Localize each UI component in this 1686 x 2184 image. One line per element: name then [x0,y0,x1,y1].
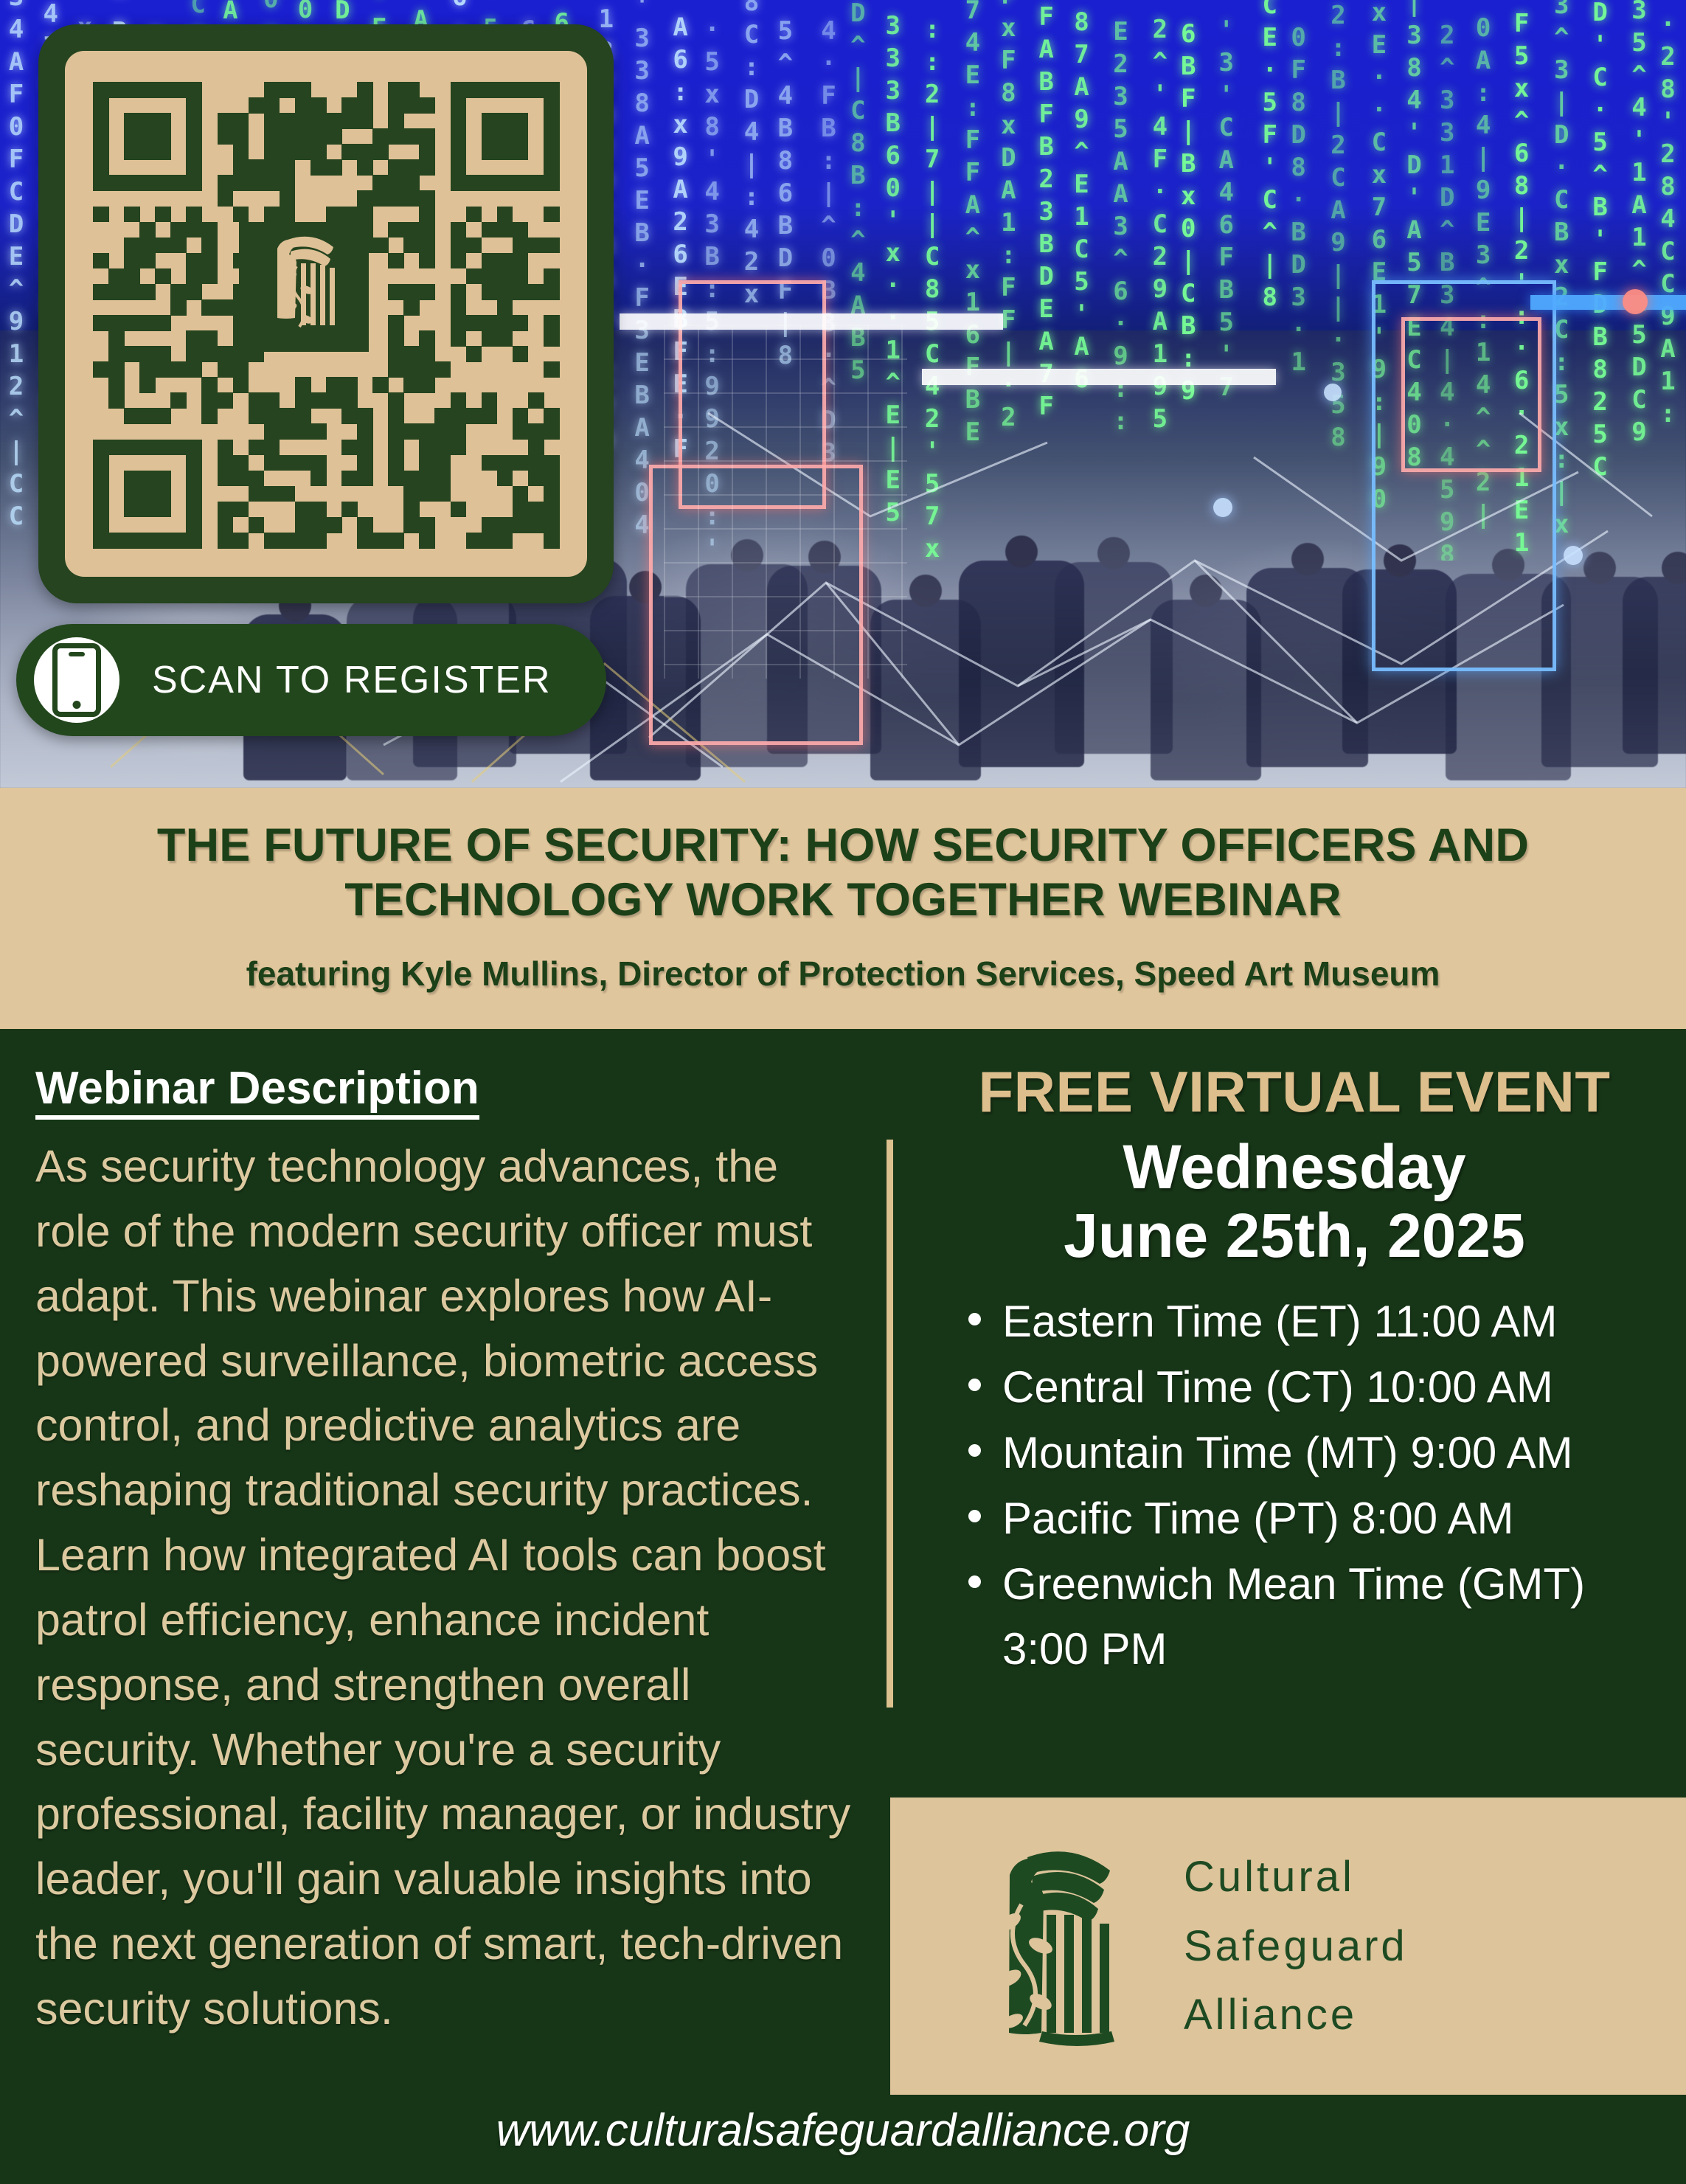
qr-module [155,471,171,487]
qr-module [218,517,234,533]
qr-module [264,128,280,145]
qr-module [124,207,140,223]
qr-module [434,440,451,456]
logo-line-2: Safeguard [1184,1912,1408,1981]
qr-module [403,238,420,254]
qr-module [280,128,296,145]
qr-module [311,502,327,518]
qr-module [218,175,234,191]
qr-module [403,377,420,393]
qr-module [124,128,140,145]
qr-module [434,408,451,424]
qr-module [280,113,296,129]
qr-module [108,533,125,549]
qr-module [233,144,249,160]
qr-module [497,82,513,98]
qr-module [218,128,234,145]
qr-module [233,361,249,378]
qr-module [280,423,296,440]
qr-module [186,471,202,487]
title-band: THE FUTURE OF SECURITY: HOW SECURITY OFF… [0,788,1686,1029]
qr-module [93,159,109,176]
qr-module [93,207,109,223]
qr-module [186,346,202,362]
organization-name: Cultural Safeguard Alliance [1184,1842,1408,2050]
qr-module [93,82,109,98]
qr-module [341,207,358,223]
qr-module [264,423,280,440]
qr-module [124,82,140,98]
qr-module [466,408,482,424]
qr-module [155,440,171,456]
qr-module [233,533,249,549]
qr-module [482,315,498,331]
qr-module [544,113,560,129]
qr-module [280,408,296,424]
qr-module [357,533,373,549]
qr-module [403,159,420,176]
qr-module [326,207,342,223]
qr-module [93,361,109,378]
qr-module [93,175,109,191]
hero-banner: 3 4 A F 0 F C D E ^ 9 1 2 ^ | C C 4 7 A … [0,0,1686,788]
event-day: Wednesday [926,1133,1663,1202]
qr-module [357,82,373,98]
qr-module [451,222,467,238]
qr-module [139,377,156,393]
qr-module [403,517,420,533]
qr-module [388,128,404,145]
qr-module [108,330,125,347]
qr-module [513,346,529,362]
qr-module [419,377,435,393]
qr-module [482,517,498,533]
qr-module [124,408,140,424]
column-logo-small-icon [239,222,369,352]
qr-module [201,268,218,285]
qr-module [233,113,249,129]
qr-module [201,238,218,254]
qr-module [264,175,280,191]
qr-module [403,346,420,362]
qr-module [201,299,218,316]
qr-module [451,284,467,300]
qr-module [341,144,358,160]
qr-module [341,113,358,129]
qr-module [139,346,156,362]
qr-module [108,268,125,285]
qr-module [155,361,171,378]
qr-module [280,82,296,98]
qr-module [388,408,404,424]
qr-module [419,346,435,362]
qr-module [170,392,187,409]
qr-module [544,284,560,300]
qr-module [419,486,435,502]
qr-module [280,190,296,207]
qr-module [249,440,265,456]
qr-module [497,128,513,145]
qr-module [403,486,420,502]
qr-module [326,128,342,145]
qr-module [466,533,482,549]
qr-module [249,97,265,114]
qr-module [513,82,529,98]
qr-module [249,486,265,502]
qr-module [295,377,311,393]
qr-module [170,175,187,191]
qr-module [170,284,187,300]
qr-module [124,315,140,331]
qr-module [186,268,202,285]
qr-module [139,486,156,502]
qr-module [124,533,140,549]
qr-module [357,113,373,129]
qr-module [186,533,202,549]
qr-module [544,330,560,347]
qr-module [311,392,327,409]
qr-module [388,284,404,300]
qr-module [419,330,435,347]
qr-module [497,253,513,269]
qr-module [295,423,311,440]
phone-icon-circle [34,637,119,723]
qr-module [544,455,560,471]
qr-module [170,82,187,98]
qr-module [372,128,389,145]
qr-module [388,361,404,378]
qr-module [218,113,234,129]
qr-module [218,455,234,471]
qr-module [513,238,529,254]
qr-module [155,346,171,362]
qr-module [388,346,404,362]
title-line-1: THE FUTURE OF SECURITY: HOW SECURITY OFF… [81,819,1605,873]
qr-module [466,175,482,191]
qr-module [186,517,202,533]
hud-dot-1 [1213,498,1232,517]
qr-module [186,440,202,456]
qr-module [388,159,404,176]
qr-module [295,82,311,98]
timezone-item: Eastern Time (ET) 11:00 AM [968,1289,1663,1355]
qr-module [403,82,420,98]
qr-module [108,377,125,393]
qr-module [93,128,109,145]
qr-module [434,471,451,487]
qr-module [295,455,311,471]
qr-module [388,190,404,207]
qr-module [497,222,513,238]
qr-module [388,440,404,456]
scan-to-register-label: SCAN TO REGISTER [152,658,552,702]
timezone-item: Pacific Time (PT) 8:00 AM [968,1486,1663,1552]
qr-module [419,517,435,533]
qr-module [295,113,311,129]
qr-module [482,330,498,347]
qr-module [139,408,156,424]
qr-module [155,144,171,160]
qr-module [357,190,373,207]
qr-module [403,175,420,191]
qr-module [93,471,109,487]
qr-module [249,175,265,191]
qr-module [528,392,544,409]
qr-module [357,440,373,456]
qr-module [108,175,125,191]
qr-module [357,144,373,160]
qr-module [372,533,389,549]
qr-module [513,486,529,502]
hud-dot-3 [1564,546,1583,565]
qr-module [528,471,544,487]
qr-module [108,82,125,98]
qr-module [357,423,373,440]
qr-module [528,517,544,533]
qr-module [528,175,544,191]
qr-module [513,113,529,129]
qr-module [434,423,451,440]
qr-module [388,471,404,487]
qr-module [124,440,140,456]
qr-code-background [65,51,587,577]
qr-module [341,440,358,456]
qr-module [233,175,249,191]
qr-module [295,517,311,533]
qr-module [201,392,218,409]
qr-module [233,128,249,145]
qr-module [497,207,513,223]
qr-module [403,361,420,378]
title-subtitle: featuring Kyle Mullins, Director of Prot… [0,954,1686,994]
qr-module [155,533,171,549]
qr-module [124,471,140,487]
qr-module [233,207,249,223]
qr-module [233,502,249,518]
qr-module [264,408,280,424]
qr-module [218,533,234,549]
qr-module [93,253,109,269]
qr-module [280,486,296,502]
qr-module [93,113,109,129]
qr-module [139,82,156,98]
qr-module [341,97,358,114]
qr-module [482,455,498,471]
timezone-item: Mountain Time (MT) 9:00 AM [968,1421,1663,1486]
qr-module [139,533,156,549]
qr-module [201,377,218,393]
qr-module [544,361,560,378]
qr-module [466,238,482,254]
qr-module [497,299,513,316]
qr-module [388,330,404,347]
qr-module [249,517,265,533]
qr-module [124,113,140,129]
qr-module [497,284,513,300]
qr-module [295,97,311,114]
qr-module [124,284,140,300]
qr-module [544,207,560,223]
qr-module [388,533,404,549]
qr-module [124,346,140,362]
qr-module [218,299,234,316]
qr-module [264,159,280,176]
hud-bar-blue [1530,295,1686,310]
qr-module [451,128,467,145]
qr-module [280,533,296,549]
qr-module [372,377,389,393]
qr-module [544,268,560,285]
qr-module [139,471,156,487]
qr-module [451,330,467,347]
qr-module [186,253,202,269]
qr-module [108,392,125,409]
qr-module [372,175,389,191]
qr-module [388,97,404,114]
qr-module [218,190,234,207]
qr-module [544,486,560,502]
qr-module [155,175,171,191]
qr-module [186,361,202,378]
qr-module [451,113,467,129]
qr-module [513,517,529,533]
qr-module [403,284,420,300]
qr-module [93,97,109,114]
qr-module [264,82,280,98]
qr-module [155,502,171,518]
qr-module [201,330,218,347]
qr-module [357,97,373,114]
qr-module [419,253,435,269]
qr-module [451,253,467,269]
mobile-phone-icon [52,643,101,717]
qr-module [295,392,311,409]
qr-module [497,330,513,347]
qr-module [544,238,560,254]
qr-module [544,533,560,549]
logo-line-1: Cultural [1184,1842,1408,1912]
qr-module [513,128,529,145]
hud-dot-2 [1324,384,1342,401]
qr-module [139,440,156,456]
qr-module [497,533,513,549]
qr-module [434,455,451,471]
qr-module [341,377,358,393]
logo-line-3: Alliance [1184,1980,1408,2050]
qr-module [93,502,109,518]
qr-module [403,299,420,316]
hud-grid [664,325,907,679]
qr-module [341,502,358,518]
qr-module [170,222,187,238]
qr-module [186,144,202,160]
qr-module [513,423,529,440]
tracking-box-blue-1 [1372,280,1556,671]
qr-module [497,455,513,471]
qr-module [326,159,342,176]
qr-module [249,392,265,409]
qr-module [186,486,202,502]
qr-module [93,440,109,456]
qr-module [139,128,156,145]
qr-module [311,113,327,129]
qr-module [513,502,529,518]
qr-module [233,471,249,487]
qr-module [170,238,187,254]
qr-module [186,222,202,238]
qr-module [311,533,327,549]
scan-to-register-button[interactable]: SCAN TO REGISTER [16,624,606,736]
qr-module [419,97,435,114]
qr-module [466,268,482,285]
page-title: THE FUTURE OF SECURITY: HOW SECURITY OFF… [0,788,1686,927]
qr-module [388,253,404,269]
qr-module [466,207,482,223]
qr-module [497,144,513,160]
qr-module [155,268,171,285]
qr-module [403,190,420,207]
webinar-flyer: 3 4 A F 0 F C D E ^ 9 1 2 ^ | C C 4 7 A … [0,0,1686,2184]
qr-module [170,533,187,549]
qr-module [419,207,435,223]
description-text: As security technology advances, the rol… [35,1134,861,2042]
qr-module [264,207,280,223]
qr-code-frame[interactable] [38,24,614,603]
qr-module [513,253,529,269]
qr-module [295,408,311,424]
qr-module [544,471,560,487]
qr-module [419,471,435,487]
qr-module [201,222,218,238]
qr-module [513,315,529,331]
event-date-value: June 25th, 2025 [926,1202,1663,1270]
qr-module [326,113,342,129]
qr-module [186,330,202,347]
website-url[interactable]: www.culturalsafeguardalliance.org [0,2104,1686,2157]
qr-module [170,440,187,456]
qr-module [497,175,513,191]
qr-module [93,486,109,502]
qr-module [419,533,435,549]
qr-module [419,423,435,440]
qr-module [326,392,342,409]
qr-module [482,392,498,409]
qr-module [264,455,280,471]
qr-module [372,190,389,207]
qr-module [341,392,358,409]
qr-module [497,268,513,285]
qr-module [186,82,202,98]
qr-module [497,471,513,487]
qr-module [155,486,171,502]
qr-module [419,284,435,300]
qr-module [466,315,482,331]
qr-module [466,82,482,98]
qr-module [513,144,529,160]
qr-module [139,284,156,300]
qr-module [233,159,249,176]
qr-module [311,128,327,145]
qr-module [451,82,467,98]
qr-module [451,97,467,114]
qr-module [201,253,218,269]
qr-module [419,440,435,456]
qr-module [124,268,140,285]
qr-module [218,471,234,487]
qr-module [155,113,171,129]
qr-module [451,502,467,518]
qr-module [93,284,109,300]
